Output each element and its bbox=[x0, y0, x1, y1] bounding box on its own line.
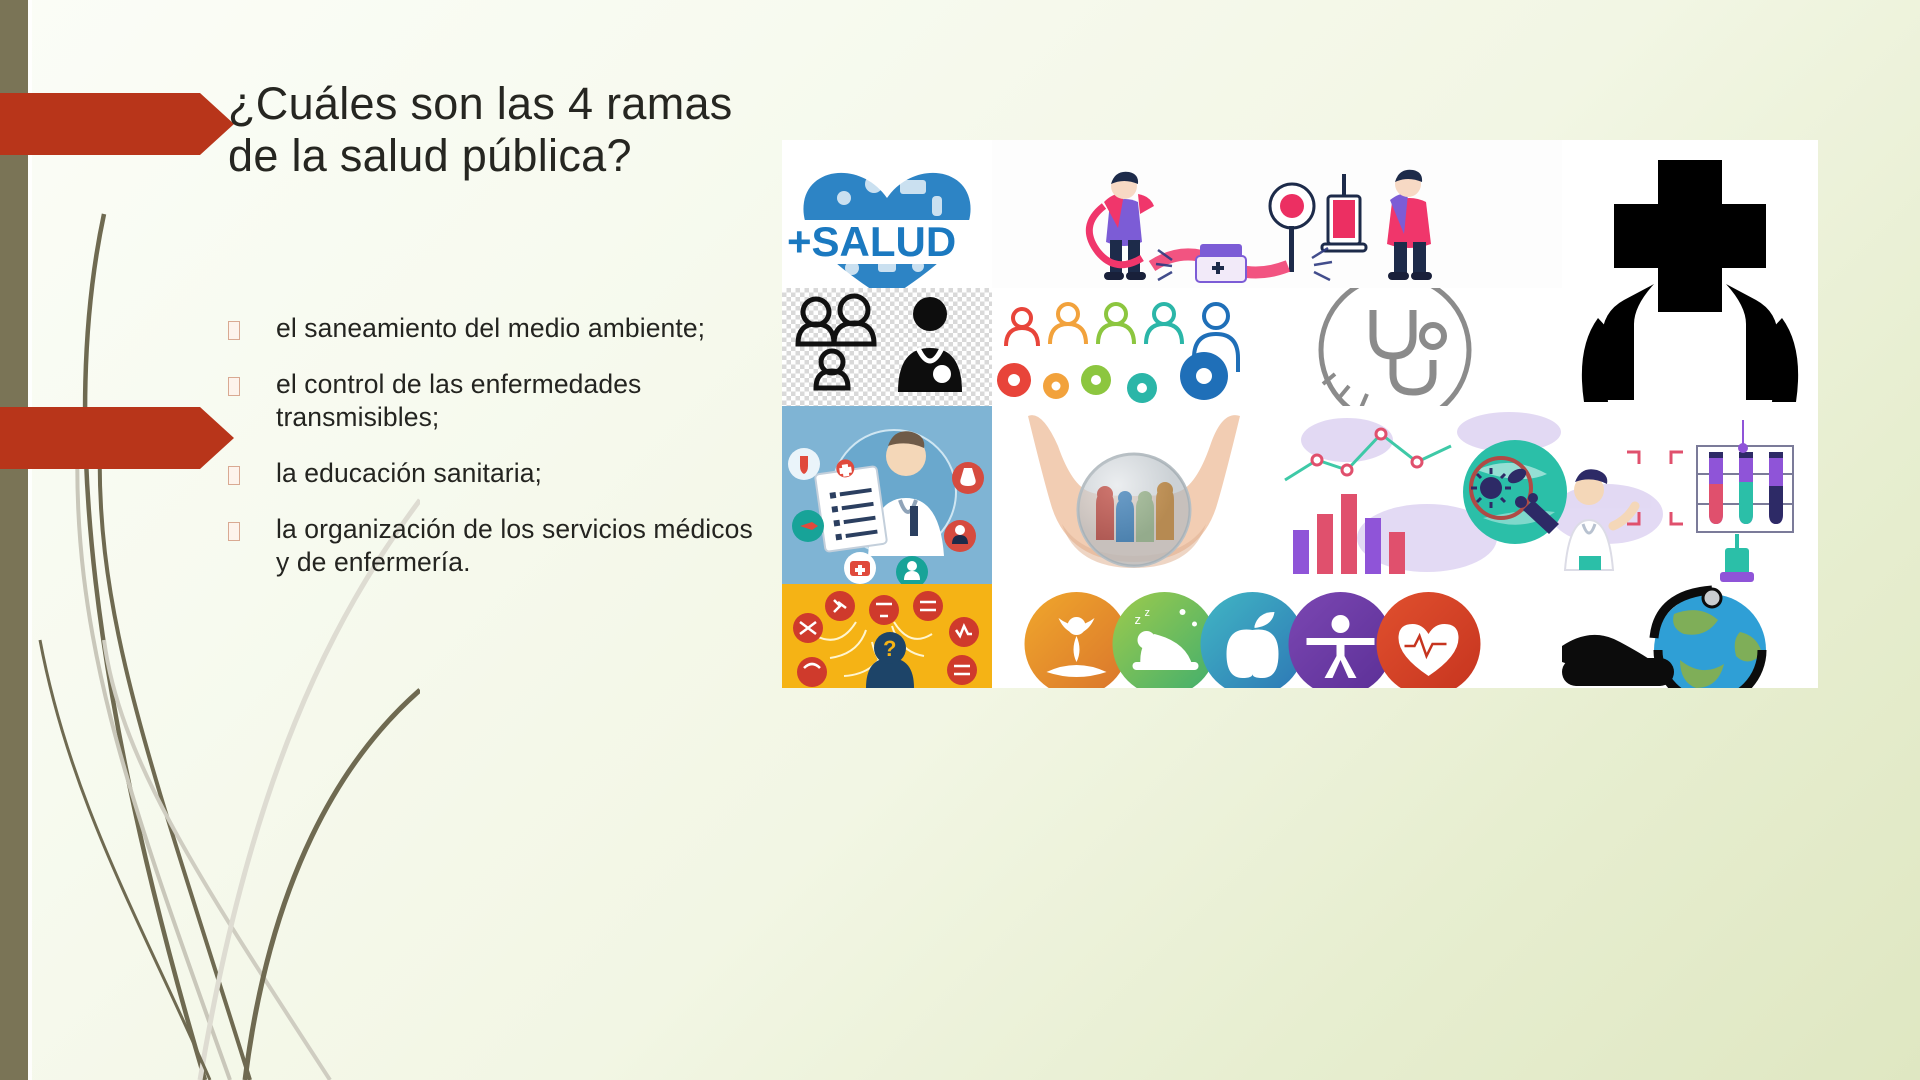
vaccination-scene-tile bbox=[992, 140, 1562, 288]
svg-text:z: z bbox=[1135, 612, 1142, 627]
list-item-label: la organización de los servicios médicos… bbox=[276, 513, 768, 580]
red-arrow-banner-top bbox=[0, 93, 200, 155]
gloved-hand-globe-tile bbox=[1562, 584, 1818, 688]
list-item-label: el saneamiento del medio ambiente; bbox=[276, 312, 705, 346]
list-item: la educación sanitaria; bbox=[228, 457, 768, 491]
svg-text:?: ? bbox=[883, 636, 896, 661]
left-white-stripe bbox=[28, 0, 32, 1080]
bullet-marker-icon bbox=[228, 466, 240, 485]
list-item: el control de las enfermedades transmisi… bbox=[228, 368, 768, 435]
page-title: ¿Cuáles son las 4 ramas de la salud públ… bbox=[228, 78, 788, 182]
svg-text:z: z bbox=[1145, 607, 1151, 619]
slide-canvas: ¿Cuáles son las 4 ramas de la salud públ… bbox=[0, 0, 1920, 1080]
wellness-circles-tile: z z bbox=[992, 584, 1562, 688]
svg-text:+SALUD: +SALUD bbox=[787, 218, 956, 265]
bullet-marker-icon bbox=[228, 377, 240, 396]
lab-research-tile bbox=[1277, 406, 1818, 584]
bullet-marker-icon bbox=[228, 522, 240, 541]
left-olive-bar bbox=[0, 0, 28, 1080]
bullet-list: el saneamiento del medio ambiente; el co… bbox=[228, 312, 768, 602]
hands-globe-tile bbox=[992, 406, 1277, 584]
red-arrow-banner-bottom bbox=[0, 407, 200, 469]
lifestyle-yellow-tile: ? bbox=[782, 584, 992, 688]
list-item-label: la educación sanitaria; bbox=[276, 457, 542, 491]
doctor-clipboard-tile bbox=[782, 406, 992, 584]
list-item: la organización de los servicios médicos… bbox=[228, 513, 768, 580]
family-icons-tile bbox=[782, 288, 992, 406]
list-item-label: el control de las enfermedades transmisi… bbox=[276, 368, 768, 435]
public-health-image-collage: +SALUD bbox=[782, 140, 1818, 688]
bullet-marker-icon bbox=[228, 321, 240, 340]
people-gears-tile bbox=[992, 288, 1277, 406]
list-item: el saneamiento del medio ambiente; bbox=[228, 312, 768, 346]
stethoscope-badge-tile bbox=[1277, 288, 1562, 406]
black-cross-hands-tile bbox=[1562, 140, 1818, 406]
